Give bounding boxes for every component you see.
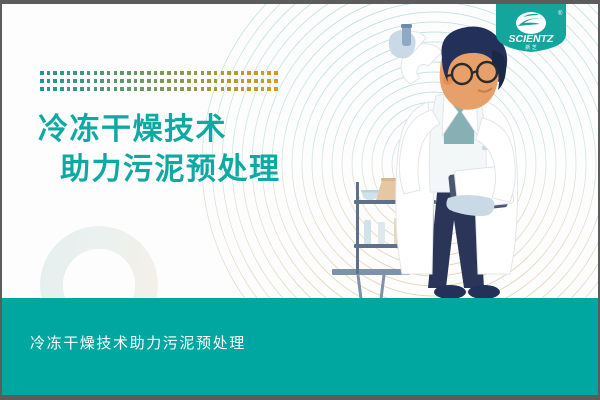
footer-caption: 冷冻干燥技术助力污泥预处理 (30, 332, 246, 353)
dot-grid-dot (274, 71, 278, 75)
dot-grid-dot (221, 87, 225, 91)
dot-grid-dot (140, 79, 144, 83)
dot-grid-dot (127, 79, 131, 83)
dot-grid-dot (40, 79, 44, 83)
dot-grid-dot (80, 71, 84, 75)
dot-grid-dot (261, 79, 265, 83)
dot-grid-dot (53, 79, 57, 83)
dot-grid-dot (107, 79, 111, 83)
dot-grid-dot (254, 79, 258, 83)
dot-grid-dot (120, 79, 124, 83)
dot-grid-dot (147, 87, 151, 91)
dot-grid-dot (267, 71, 271, 75)
dot-grid-dot (127, 87, 131, 91)
dot-grid-dot (154, 87, 158, 91)
dot-grid-dot (254, 87, 258, 91)
dot-grid-dot (60, 79, 64, 83)
dot-grid-dot (100, 87, 104, 91)
dot-grid-dot (201, 71, 205, 75)
hero-title: 冷冻干燥技术 助力污泥预处理 (38, 110, 338, 190)
logo-subtext: 新 芝 (525, 44, 537, 51)
dot-grid-dot (160, 71, 164, 75)
dot-grid-dot (180, 87, 184, 91)
dot-grid-dot (107, 71, 111, 75)
dot-grid-dot (180, 79, 184, 83)
dot-grid-dot (67, 79, 71, 83)
dot-grid-dot (234, 71, 238, 75)
dot-grid-dot (80, 87, 84, 91)
dot-grid-dot (247, 71, 251, 75)
dot-grid-decoration (40, 71, 275, 93)
dot-grid-dot (214, 87, 218, 91)
dot-grid-dot (114, 87, 118, 91)
dot-grid-dot (120, 87, 124, 91)
dot-grid-dot (73, 87, 77, 91)
dot-grid-dot (114, 79, 118, 83)
dot-grid-dot (247, 87, 251, 91)
dot-grid-dot (174, 79, 178, 83)
hero-title-line-2: 助力污泥预处理 (38, 150, 338, 190)
dot-grid-dot (94, 71, 98, 75)
dot-grid-dot (194, 87, 198, 91)
dot-grid-dot (234, 87, 238, 91)
dot-grid-dot (241, 71, 245, 75)
dot-grid-dot (134, 87, 138, 91)
dot-grid-dot (114, 71, 118, 75)
dot-grid-dot (241, 87, 245, 91)
scientz-swoosh-icon (516, 12, 546, 34)
dot-grid-dot (241, 79, 245, 83)
dot-grid-dot (201, 79, 205, 83)
dot-grid-row (40, 87, 275, 92)
dot-grid-dot (194, 79, 198, 83)
dot-grid-dot (221, 71, 225, 75)
logo-brand-text: SCIENTZ (509, 33, 555, 45)
dot-grid-dot (134, 79, 138, 83)
dot-grid-dot (227, 71, 231, 75)
dot-grid-dot (261, 71, 265, 75)
dot-grid-dot (73, 71, 77, 75)
dot-grid-dot (100, 71, 104, 75)
dot-grid-dot (53, 71, 57, 75)
dot-grid-dot (227, 87, 231, 91)
dot-grid-dot (187, 87, 191, 91)
dot-grid-dot (67, 87, 71, 91)
dot-grid-dot (87, 79, 91, 83)
banner-frame: 冷冻干燥技术 助力污泥预处理 SCIENTZ 新 芝 ® 冷冻干燥技术助力污泥预… (0, 0, 600, 400)
dot-grid-dot (40, 71, 44, 75)
dot-grid-dot (267, 87, 271, 91)
dot-grid-dot (234, 79, 238, 83)
dot-grid-dot (254, 71, 258, 75)
dot-grid-dot (147, 79, 151, 83)
dot-grid-dot (53, 87, 57, 91)
dot-grid-dot (167, 71, 171, 75)
dot-grid-dot (174, 71, 178, 75)
dot-grid-dot (154, 71, 158, 75)
dot-grid-dot (207, 87, 211, 91)
dot-grid-dot (94, 79, 98, 83)
dot-grid-row (40, 79, 275, 84)
scientist-holding-test-tube-illustration (332, 22, 562, 307)
dot-grid-dot (67, 71, 71, 75)
dot-grid-dot (160, 87, 164, 91)
dot-grid-dot (140, 87, 144, 91)
dot-grid-dot (107, 87, 111, 91)
dot-grid-dot (73, 79, 77, 83)
dot-grid-dot (214, 79, 218, 83)
dot-grid-dot (247, 79, 251, 83)
dot-grid-dot (87, 71, 91, 75)
dot-grid-dot (274, 79, 278, 83)
dot-grid-dot (267, 79, 271, 83)
dot-grid-dot (134, 71, 138, 75)
dot-grid-dot (207, 71, 211, 75)
dot-grid-dot (100, 79, 104, 83)
registered-mark-icon: ® (558, 10, 563, 17)
hero-title-line-1: 冷冻干燥技术 (38, 110, 338, 150)
dot-grid-dot (47, 71, 51, 75)
dot-grid-dot (127, 71, 131, 75)
dot-grid-dot (60, 87, 64, 91)
footer-bar: 冷冻干燥技术助力污泥预处理 (2, 298, 598, 395)
dot-grid-dot (94, 87, 98, 91)
beaker (361, 190, 379, 200)
dot-grid-dot (221, 79, 225, 83)
dot-grid-dot (194, 71, 198, 75)
dot-grid-dot (180, 71, 184, 75)
dot-grid-dot (147, 71, 151, 75)
dot-grid-dot (60, 71, 64, 75)
dot-grid-dot (160, 79, 164, 83)
dot-grid-dot (47, 79, 51, 83)
dot-grid-dot (87, 87, 91, 91)
banner-canvas: 冷冻干燥技术 助力污泥预处理 SCIENTZ 新 芝 ® 冷冻干燥技术助力污泥预… (2, 4, 598, 395)
dot-grid-dot (167, 87, 171, 91)
dot-grid-dot (227, 79, 231, 83)
dot-grid-dot (261, 87, 265, 91)
dot-grid-dot (47, 87, 51, 91)
dot-grid-dot (167, 79, 171, 83)
dot-grid-dot (201, 87, 205, 91)
test-tube (401, 24, 412, 46)
dot-grid-dot (140, 71, 144, 75)
dot-grid-dot (207, 79, 211, 83)
dot-grid-dot (154, 79, 158, 83)
dot-grid-dot (40, 87, 44, 91)
dot-grid-dot (80, 79, 84, 83)
dot-grid-dot (174, 87, 178, 91)
dot-grid-dot (274, 87, 278, 91)
dot-grid-dot (187, 71, 191, 75)
scientz-logo[interactable]: SCIENTZ 新 芝 ® (496, 4, 566, 52)
dot-grid-row (40, 71, 275, 76)
dot-grid-dot (187, 79, 191, 83)
dot-grid-dot (214, 71, 218, 75)
dot-grid-dot (120, 71, 124, 75)
